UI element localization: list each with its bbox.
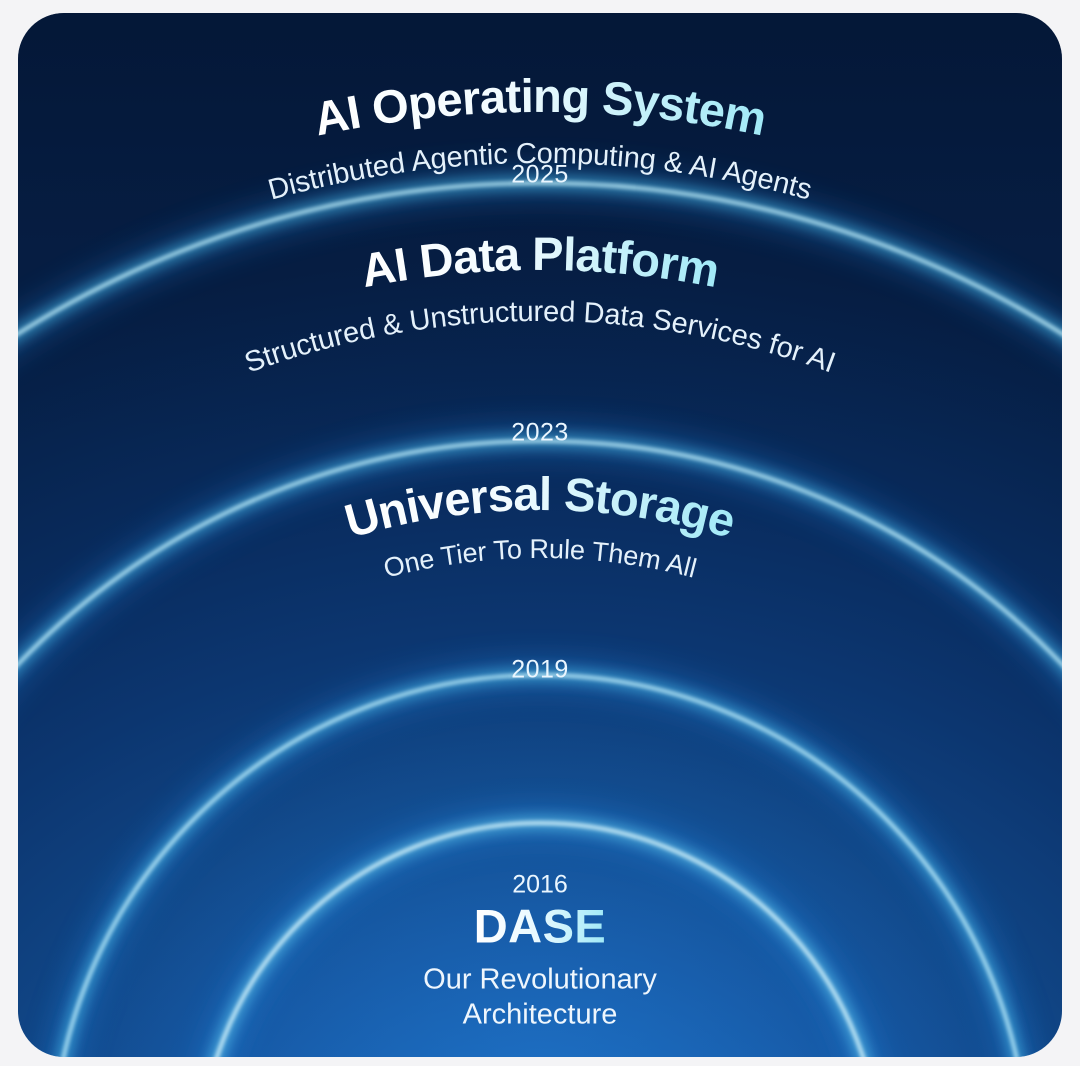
arc-2023 [18, 441, 1062, 1057]
arc-2019 [52, 675, 1028, 1057]
technology-evolution-card [18, 13, 1062, 1057]
page-background: 2025 AI Operating System Distributed Age… [0, 0, 1080, 1066]
arc-2016 [200, 823, 880, 1057]
arc-2025 [18, 183, 1062, 1057]
concentric-arcs [18, 13, 1062, 1057]
